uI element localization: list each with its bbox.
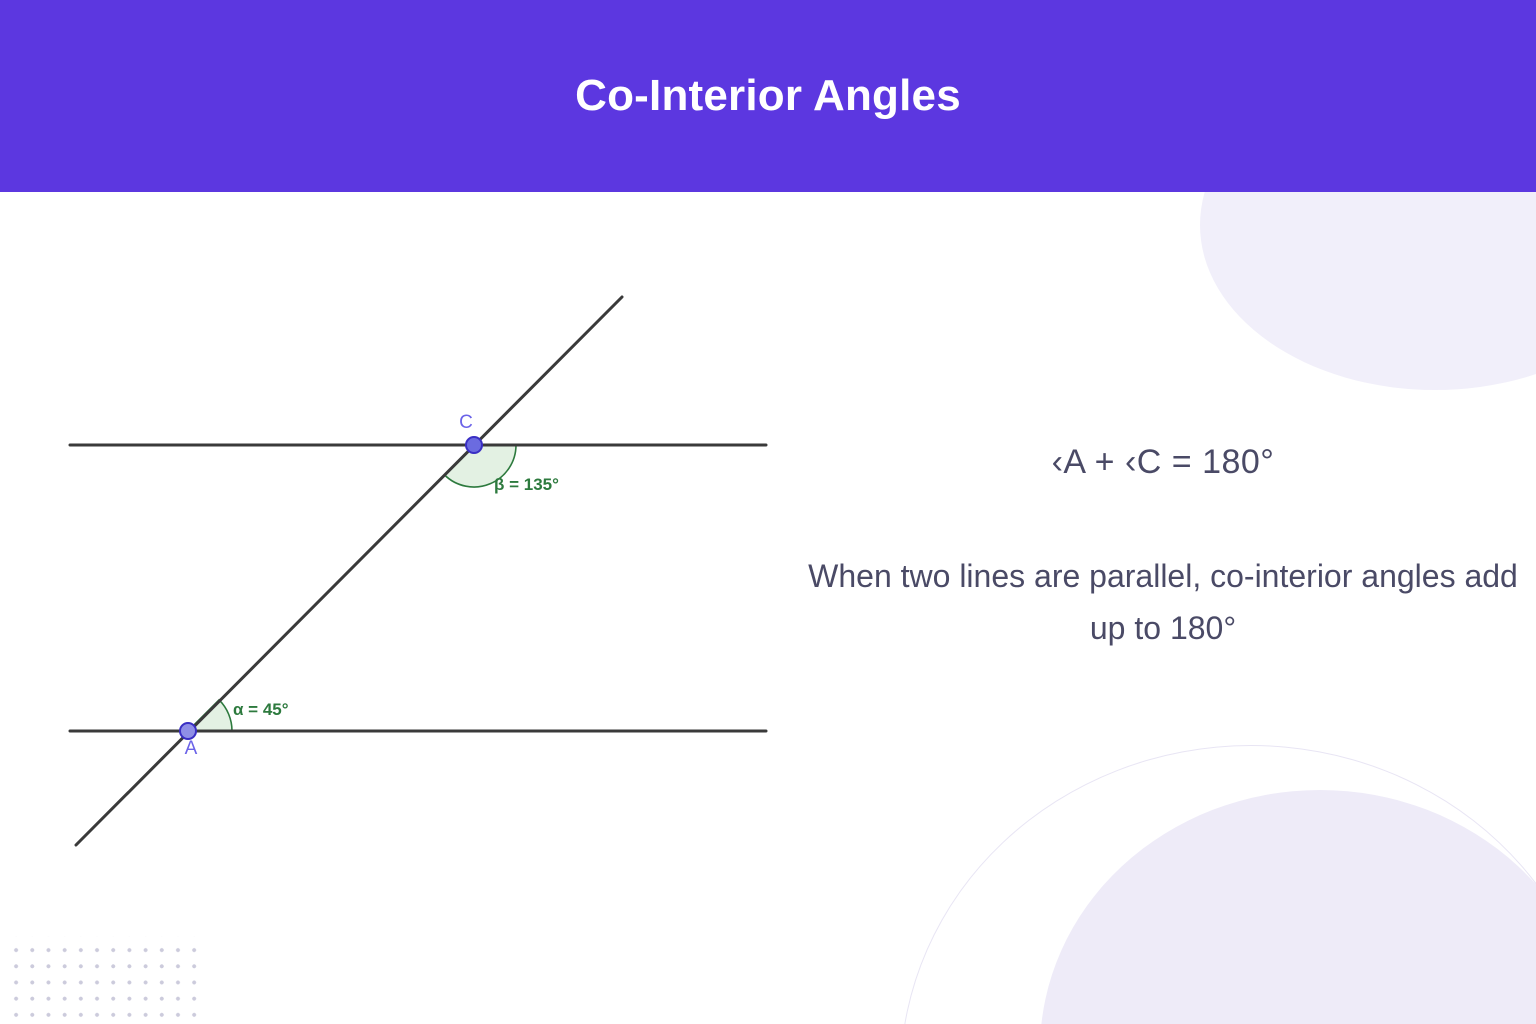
transversal-line bbox=[76, 297, 622, 845]
explanation-text: When two lines are parallel, co-interior… bbox=[807, 551, 1519, 655]
intersection-point-a bbox=[180, 723, 196, 739]
beta-angle-label: β = 135° bbox=[494, 475, 559, 494]
geometry-figure: C A β = 135° α = 45° bbox=[0, 192, 830, 1024]
point-label-c: C bbox=[459, 412, 473, 433]
alpha-angle-label: α = 45° bbox=[233, 700, 289, 719]
angle-sum-formula: ‹A + ‹C = 180° bbox=[1052, 442, 1275, 483]
page-title: Co-Interior Angles bbox=[575, 74, 961, 118]
figure-pane: C A β = 135° α = 45° bbox=[0, 192, 830, 1024]
intersection-point-c bbox=[466, 437, 482, 453]
slide-root: Co-Interior Angles C A β bbox=[0, 0, 1536, 1024]
header-bar: Co-Interior Angles bbox=[0, 0, 1536, 192]
point-label-a: A bbox=[185, 738, 198, 759]
explanation-pane: ‹A + ‹C = 180° When two lines are parall… bbox=[790, 192, 1536, 1024]
content-area: C A β = 135° α = 45° ‹A + ‹C = 180° When… bbox=[0, 192, 1536, 1024]
